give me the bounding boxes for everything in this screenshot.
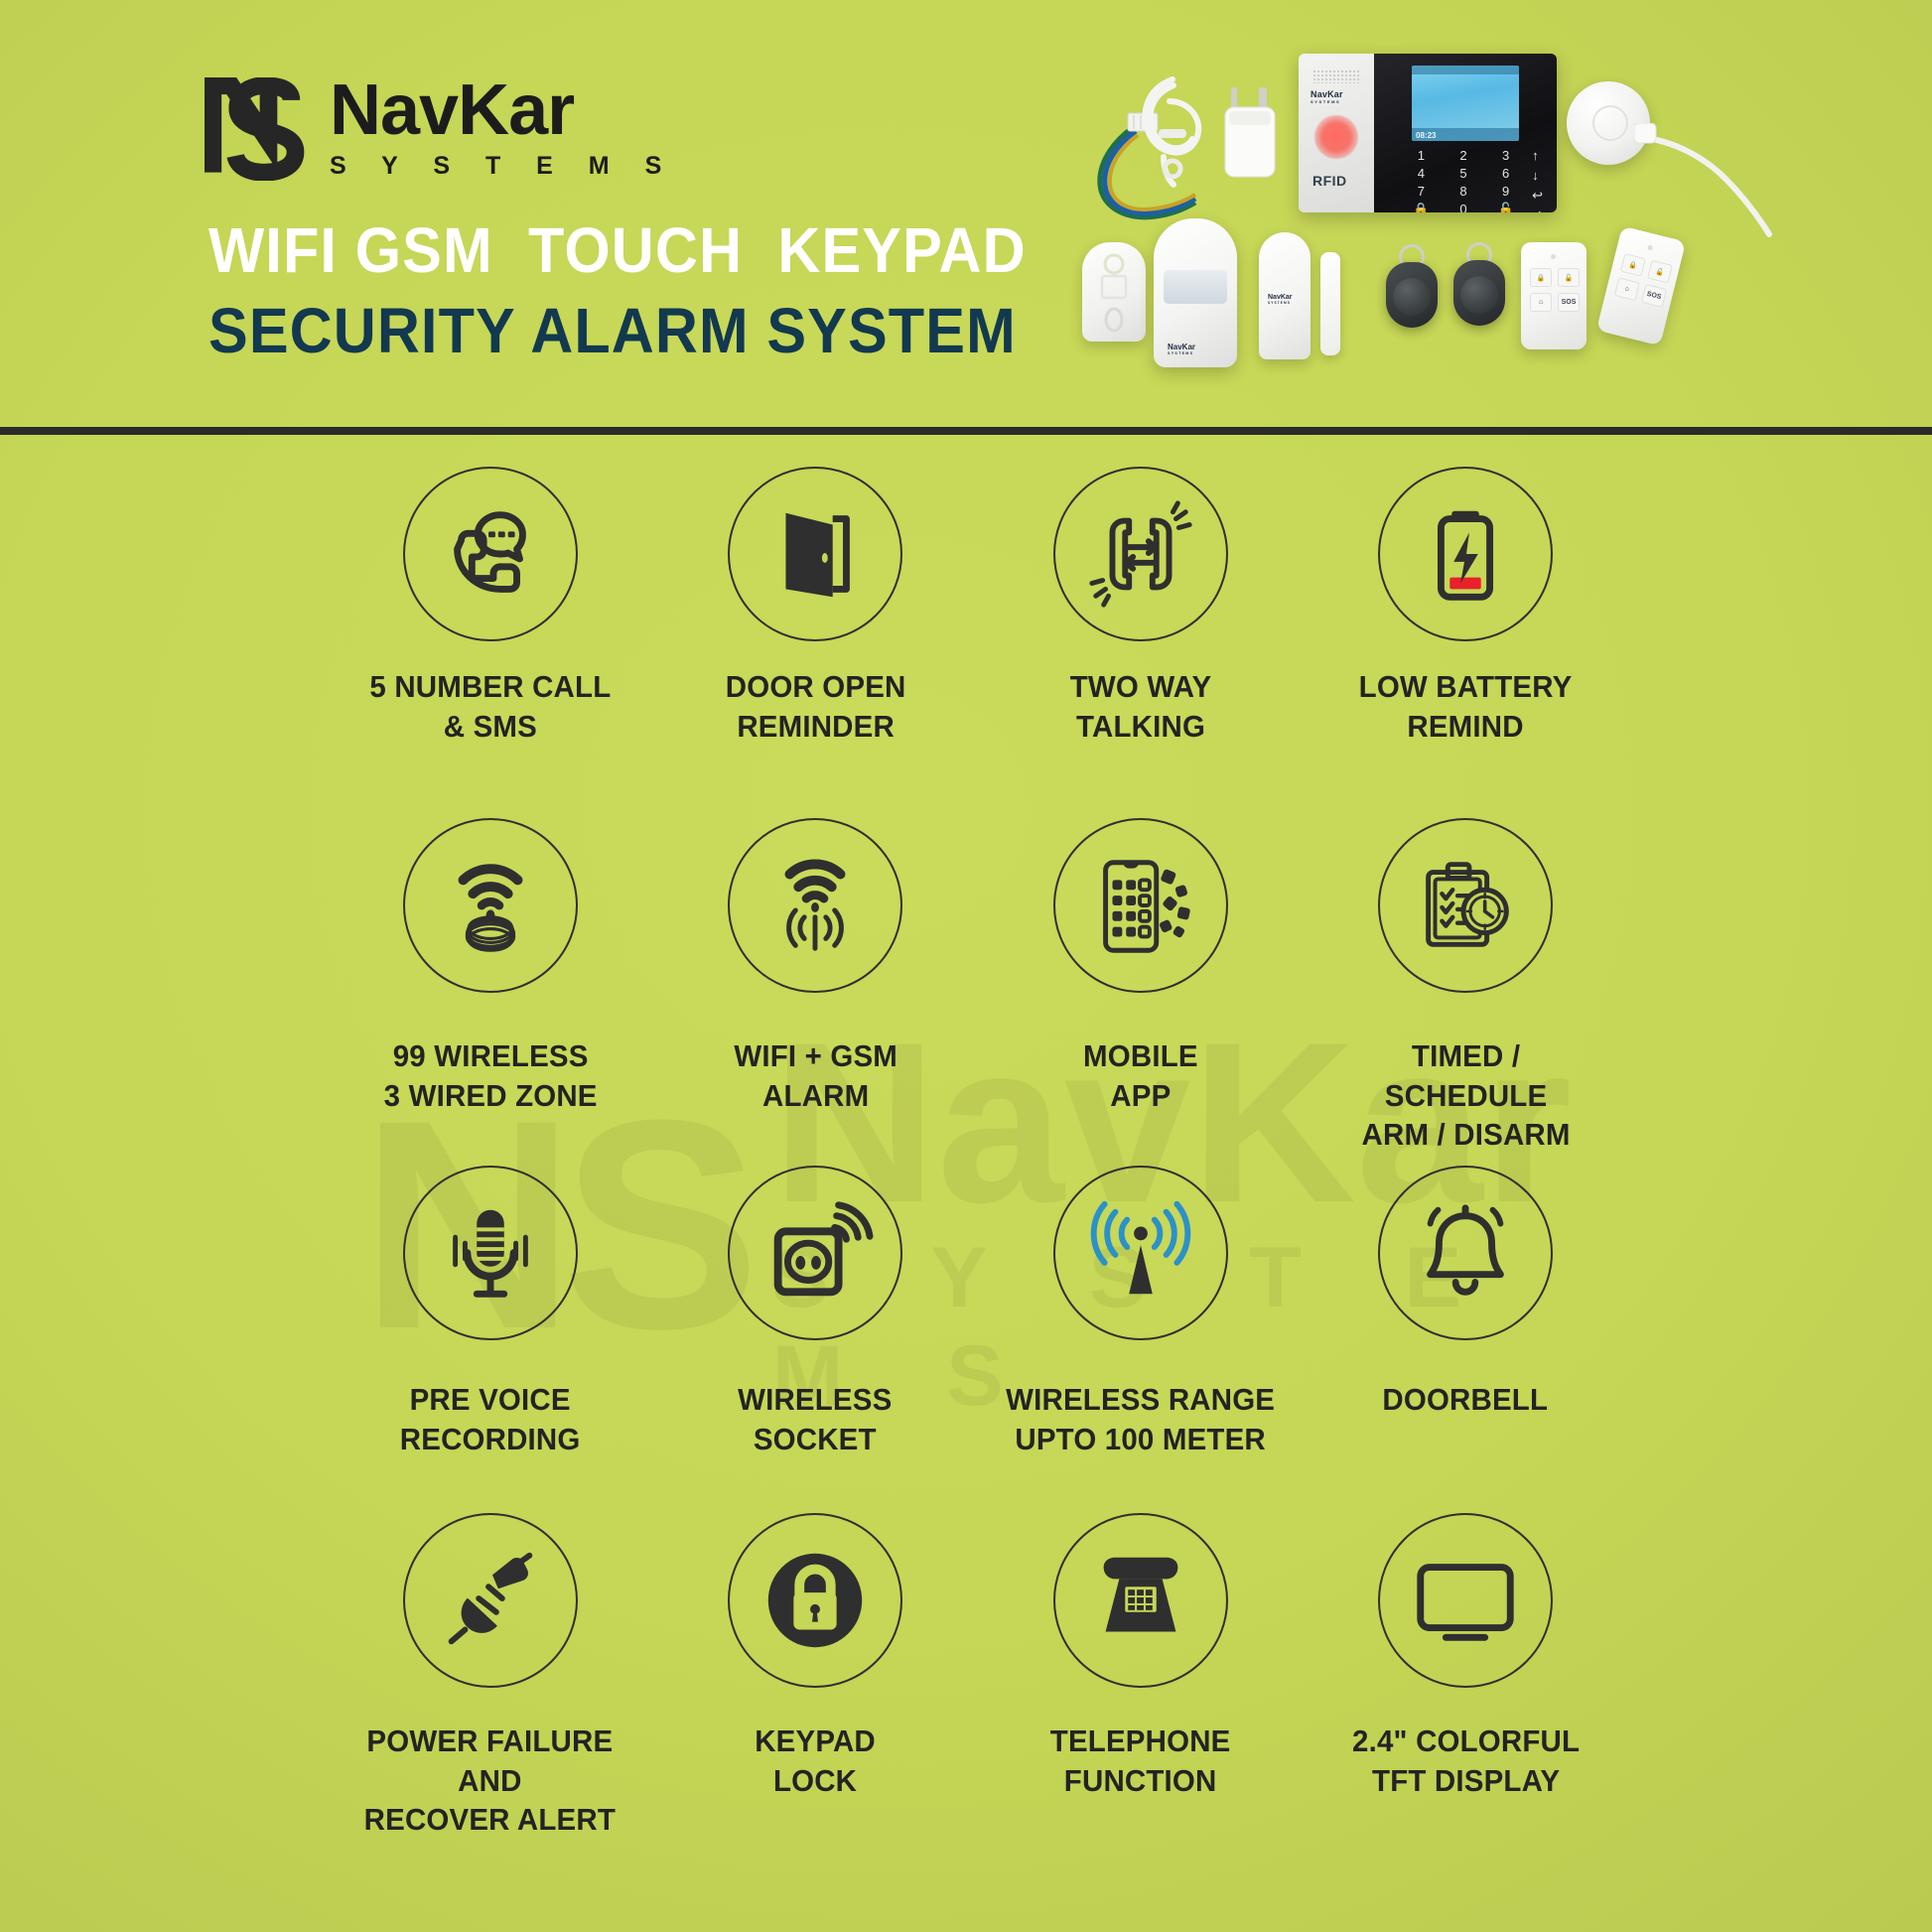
remote-led-icon — [1551, 254, 1556, 259]
remote-arm-lock-icon[interactable]: 🔒 — [1530, 268, 1552, 287]
feature-item: 5 NUMBER CALL & SMS — [328, 467, 653, 804]
touch-keypad-panel-photo: NavKar SYSTEMS RFID 08:23 1 2 3 — [1299, 54, 1557, 212]
feature-label: DOORBELL — [1383, 1380, 1549, 1420]
panel-brand-label: NavKar SYSTEMS — [1311, 89, 1343, 104]
siren-wire-photo — [1634, 123, 1783, 242]
door-sensor-brand-label: NavKar SYSTEMS — [1268, 294, 1293, 305]
feature-item: TWO WAY TALKING — [978, 467, 1304, 804]
feature-label: POWER FAILURE AND RECOVER ALERT — [364, 1722, 616, 1840]
arrow-up-icon[interactable]: ↑ — [1532, 149, 1543, 162]
call-sms-icon — [403, 467, 578, 641]
door-magnet-photo — [1320, 252, 1340, 355]
feature-item: TIMED / SCHEDULE ARM / DISARM — [1304, 818, 1629, 1156]
keypad-key-lock-icon[interactable]: 🔒 — [1404, 203, 1439, 212]
page-title: WIFI GSM TOUCH KEYPAD SECURITY ALARM SYS… — [208, 210, 1088, 372]
remote-home-icon[interactable]: ⌂ — [1530, 293, 1552, 312]
feature-label: WIFI + GSM ALARM — [734, 1036, 897, 1115]
back-icon[interactable]: ↩ — [1532, 189, 1543, 202]
feature-item: MOBILE APP — [978, 818, 1304, 1156]
feature-item: 2.4" COLORFUL TFT DISPLAY — [1304, 1513, 1629, 1851]
remote-button-grid[interactable]: 🔒 🔓 ⌂ SOS — [1530, 268, 1580, 312]
feature-label: LOW BATTERY REMIND — [1359, 667, 1573, 746]
feature-label: TWO WAY TALKING — [1069, 667, 1211, 746]
header-divider — [0, 427, 1932, 435]
keypad-key[interactable]: 1 — [1404, 149, 1439, 162]
door-open-icon — [728, 467, 902, 641]
feature-label: KEYPAD LOCK — [755, 1722, 876, 1800]
feature-item: DOOR OPEN REMINDER — [653, 467, 979, 804]
rfid-indicator-icon — [1314, 115, 1358, 159]
wireless-wired-zone-icon — [403, 818, 578, 993]
usb-charger-photo — [1219, 83, 1281, 183]
telephone-icon — [1053, 1513, 1228, 1688]
feature-label: 2.4" COLORFUL TFT DISPLAY — [1352, 1722, 1580, 1800]
feature-label: WIRELESS RANGE UPTO 100 METER — [1006, 1380, 1275, 1458]
keypad-key[interactable]: 7 — [1404, 185, 1439, 198]
feature-item: LOW BATTERY REMIND — [1304, 467, 1629, 804]
feature-item: WIFI + GSM ALARM — [653, 818, 979, 1156]
feature-item: PRE VOICE RECORDING — [328, 1166, 653, 1503]
mobile-app-icon — [1053, 818, 1228, 993]
brand-logo: NavKar S Y S T E M S — [205, 77, 676, 181]
keypad-key[interactable]: 9 — [1488, 185, 1523, 198]
feature-item: WIRELESS SOCKET — [653, 1166, 979, 1503]
product-photo-cluster: NavKar SYSTEMS RFID 08:23 1 2 3 — [1072, 28, 1827, 395]
feature-grid: 5 NUMBER CALL & SMS DOOR OPEN REMINDER — [328, 467, 1628, 1851]
keypad-key[interactable]: 6 — [1488, 167, 1523, 180]
wall-mount-bracket-photo — [1082, 242, 1146, 342]
ns-monogram-icon — [205, 77, 308, 181]
feature-label: 5 NUMBER CALL & SMS — [369, 667, 611, 746]
feature-item: POWER FAILURE AND RECOVER ALERT — [328, 1513, 653, 1851]
infographic-page: NS NavKar S Y S T E M S NavKar S Y S T E… — [0, 0, 1932, 1932]
lcd-clock: 08:23 — [1416, 131, 1436, 140]
pir-lens — [1164, 270, 1227, 304]
panel-side-keys[interactable]: ↑ ↓ ↩ ✓ — [1532, 149, 1543, 212]
feature-label: TIMED / SCHEDULE ARM / DISARM — [1361, 1036, 1570, 1155]
keypad-key-unlock-icon[interactable]: 🔓 — [1488, 203, 1523, 212]
wifi-gsm-icon — [728, 818, 902, 993]
feature-label: PRE VOICE RECORDING — [400, 1380, 581, 1458]
low-battery-icon — [1378, 467, 1553, 641]
remote-led-icon — [1647, 245, 1653, 251]
keypad-key[interactable]: 0 — [1447, 203, 1481, 212]
lcd-display: 08:23 — [1412, 66, 1519, 141]
remote-control-photo: 🔒 🔓 ⌂ SOS — [1521, 242, 1587, 349]
header-banner: NavKar S Y S T E M S WIFI GSM TOUCH KEYP… — [0, 0, 1932, 433]
remote-control-photo: 🔒 🔓 ⌂ SOS — [1596, 226, 1686, 346]
keypad-key[interactable]: 3 — [1488, 149, 1523, 162]
doorbell-icon — [1378, 1166, 1553, 1340]
feature-label: 99 WIRELESS 3 WIRED ZONE — [383, 1036, 597, 1115]
white-cable-coil-photo — [1130, 71, 1215, 189]
feature-item: KEYPAD LOCK — [653, 1513, 979, 1851]
tft-display-icon — [1378, 1513, 1553, 1688]
arrow-down-icon[interactable]: ↓ — [1532, 169, 1543, 182]
panel-left-face: NavKar SYSTEMS RFID — [1299, 54, 1374, 212]
rfid-key-fob-photo — [1384, 244, 1440, 330]
power-plug-icon — [403, 1513, 578, 1688]
fob-body — [1453, 260, 1505, 326]
lcd-status-bar — [1412, 66, 1519, 74]
feature-label: TELEPHONE FUNCTION — [1050, 1722, 1231, 1800]
feature-item: TELEPHONE FUNCTION — [978, 1513, 1304, 1851]
remote-disarm-unlock-icon[interactable]: 🔓 — [1647, 260, 1673, 284]
pir-motion-sensor-photo: NavKar SYSTEMS — [1154, 218, 1237, 367]
two-way-talking-icon — [1053, 467, 1228, 641]
signal-range-icon — [1053, 1166, 1228, 1340]
title-line-1: WIFI GSM TOUCH KEYPAD — [208, 210, 1027, 291]
remote-sos-button[interactable]: SOS — [1558, 293, 1580, 312]
pir-brand-label: NavKar SYSTEMS — [1168, 343, 1195, 355]
remote-sos-button[interactable]: SOS — [1641, 284, 1667, 308]
feature-item: 99 WIRELESS 3 WIRED ZONE — [328, 818, 653, 1156]
feature-label: WIRELESS SOCKET — [739, 1380, 893, 1458]
door-contact-sensor-photo: NavKar SYSTEMS — [1259, 232, 1311, 359]
feature-item: DOORBELL — [1304, 1166, 1629, 1503]
schedule-clock-icon — [1378, 818, 1553, 993]
feature-label: MOBILE APP — [1083, 1036, 1198, 1115]
rfid-label: RFID — [1312, 173, 1347, 189]
feature-label: DOOR OPEN REMINDER — [725, 667, 905, 746]
padlock-icon — [728, 1513, 902, 1688]
brand-subtitle: S Y S T E M S — [330, 152, 676, 181]
fob-body — [1386, 262, 1438, 328]
remote-home-icon[interactable]: ⌂ — [1614, 277, 1640, 301]
remote-disarm-unlock-icon[interactable]: 🔓 — [1558, 268, 1580, 287]
feature-item: WIRELESS RANGE UPTO 100 METER — [978, 1166, 1304, 1503]
title-line-2: SECURITY ALARM SYSTEM — [208, 291, 1027, 371]
microphone-icon — [403, 1166, 578, 1340]
panel-right-face: 08:23 1 2 3 4 5 6 7 8 9 🔒 0 🔓 — [1374, 54, 1557, 212]
remote-button-grid[interactable]: 🔒 🔓 ⌂ SOS — [1614, 253, 1673, 308]
numeric-keypad[interactable]: 1 2 3 4 5 6 7 8 9 🔒 0 🔓 — [1404, 149, 1523, 212]
speaker-grille-icon — [1312, 69, 1360, 83]
wireless-socket-icon — [728, 1166, 902, 1340]
rfid-key-fob-photo — [1451, 242, 1507, 328]
remote-arm-lock-icon[interactable]: 🔒 — [1620, 253, 1646, 277]
keypad-key[interactable]: 2 — [1447, 149, 1481, 162]
keypad-key[interactable]: 8 — [1447, 185, 1481, 198]
brand-name: NavKar — [330, 77, 676, 143]
keypad-key[interactable]: 4 — [1404, 167, 1439, 180]
confirm-check-icon[interactable]: ✓ — [1532, 208, 1543, 212]
keypad-key[interactable]: 5 — [1447, 167, 1481, 180]
